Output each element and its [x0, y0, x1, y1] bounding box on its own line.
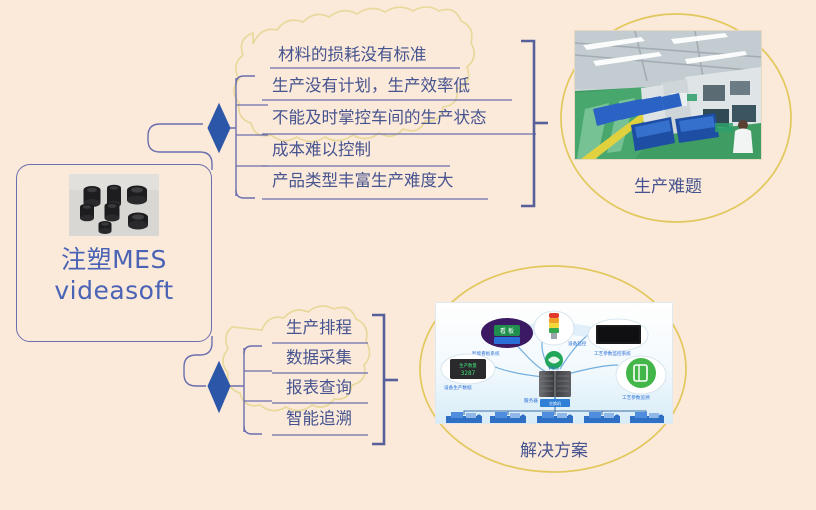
branch-item-problem-1[interactable]: 材料的损耗没有标准: [268, 39, 548, 70]
solution-architecture-diagram: 看 板 智能看板系统 设备监控 工艺参数监控系统 生产数量: [435, 302, 673, 424]
cluster-caption-solution: 解决方案: [434, 436, 674, 461]
branch-item-problem-2[interactable]: 生产没有计划，生产效率低: [262, 70, 548, 101]
svg-text:生产数量: 生产数量: [459, 362, 477, 369]
mindmap-canvas: 注塑MES videasoft 材料的损耗没有标准 生产没有计划，生产效率低 不…: [0, 0, 816, 510]
root-node[interactable]: 注塑MES videasoft: [16, 164, 212, 342]
branch-problems-items: 材料的损耗没有标准 生产没有计划，生产效率低 不能及时掌控车间的生产状态 成本难…: [268, 39, 548, 196]
connector-root-to-bottom-diamond: [184, 336, 212, 386]
tree-bracket-top-lower: [236, 190, 255, 198]
cluster-production-problems: 生产难题: [572, 30, 764, 197]
svg-text:3287: 3287: [461, 370, 476, 377]
svg-text:交换机: 交换机: [549, 400, 561, 406]
branch-item-solution-1[interactable]: 生产排程: [276, 313, 376, 343]
root-title-line-1: 注塑MES: [61, 245, 167, 274]
svg-text:工艺参数追溯: 工艺参数追溯: [622, 394, 650, 401]
cluster-solution-plan: 看 板 智能看板系统 设备监控 工艺参数监控系统 生产数量: [434, 302, 674, 461]
tree-bracket-top-upper: [236, 76, 255, 84]
svg-text:看 板: 看 板: [500, 327, 514, 335]
svg-text:设备监控: 设备监控: [568, 340, 587, 347]
branch-item-problem-5[interactable]: 产品类型丰富生产难度大: [262, 165, 548, 196]
branch-item-solution-4[interactable]: 智能追溯: [276, 403, 376, 435]
root-title: 注塑MES videasoft: [54, 244, 173, 307]
branch-solutions-items: 生产排程 数据采集 报表查询 智能追溯: [276, 313, 376, 435]
tree-spine-top: [230, 78, 236, 196]
branch-item-problem-4[interactable]: 成本难以控制: [262, 134, 548, 165]
svg-text:工艺参数监控系统: 工艺参数监控系统: [594, 350, 631, 357]
root-title-line-2: videasoft: [54, 275, 173, 306]
tree-spine-bottom: [230, 348, 244, 432]
svg-text:设备生产数据: 设备生产数据: [444, 384, 472, 391]
branch-item-solution-3[interactable]: 报表查询: [276, 373, 376, 403]
root-product-image: [69, 174, 159, 236]
tree-bracket-bottom-upper: [244, 346, 262, 354]
svg-text:服务器: 服务器: [524, 397, 538, 404]
diamond-connector-bottom: [208, 362, 230, 412]
tree-bracket-bottom-lower: [244, 426, 262, 434]
branch-item-problem-3[interactable]: 不能及时掌控车间的生产状态: [262, 101, 548, 134]
branch-item-solution-2[interactable]: 数据采集: [276, 343, 376, 373]
diamond-connector-top: [208, 104, 230, 152]
cluster-caption-production: 生产难题: [572, 172, 764, 197]
factory-photo: [574, 30, 762, 160]
